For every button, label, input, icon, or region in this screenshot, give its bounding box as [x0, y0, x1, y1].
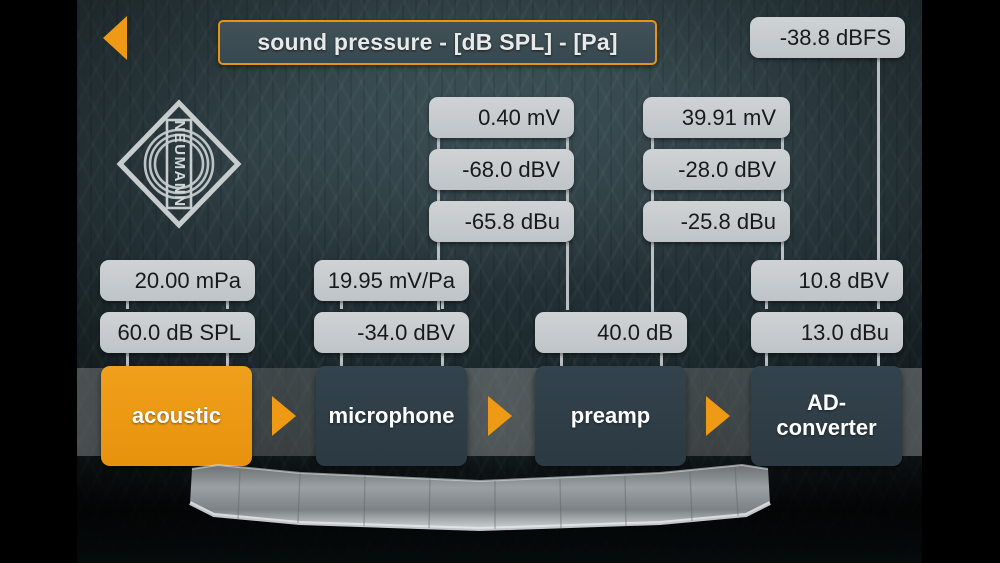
microphone-body — [180, 463, 780, 543]
value-text: 0.40 mV — [478, 105, 560, 131]
page-title: sound pressure - [dB SPL] - [Pa] — [218, 20, 657, 65]
value-text: -34.0 dBV — [357, 320, 455, 346]
connector-line — [651, 242, 654, 314]
value-text: 10.8 dBV — [798, 268, 889, 294]
neumann-diamond-logo: NEUMANN — [115, 98, 243, 230]
value-chip-preamp-dbv: -28.0 dBV — [643, 149, 790, 190]
stage-label: microphone — [329, 404, 455, 429]
arrow-right-icon — [488, 396, 512, 436]
value-text: 40.0 dB — [597, 320, 673, 346]
page-title-text: sound pressure - [dB SPL] - [Pa] — [257, 29, 617, 56]
svg-text:NEUMANN: NEUMANN — [171, 120, 188, 207]
value-text: -25.8 dBu — [681, 209, 776, 235]
value-chip-microphone-sensitivity: 19.95 mV/Pa — [314, 260, 469, 301]
stage-acoustic[interactable]: acoustic — [101, 366, 252, 466]
arrow-right-icon — [272, 396, 296, 436]
value-chip-acoustic-mpa: 20.00 mPa — [100, 260, 255, 301]
stage-label: AD- converter — [776, 391, 876, 440]
value-text: -38.8 dBFS — [780, 25, 891, 51]
letterbox-left — [0, 0, 77, 563]
stage-label: preamp — [571, 404, 650, 429]
value-chip-mic-dbu: -65.8 dBu — [429, 201, 574, 242]
stage-ad-converter[interactable]: AD- converter — [751, 366, 902, 466]
value-chip-microphone-dbv: -34.0 dBV — [314, 312, 469, 353]
connector-line — [877, 58, 880, 263]
value-text: -28.0 dBV — [678, 157, 776, 183]
value-text: -68.0 dBV — [462, 157, 560, 183]
connector-line — [566, 242, 569, 310]
value-text: 13.0 dBu — [801, 320, 889, 346]
value-text: 19.95 mV/Pa — [328, 268, 455, 294]
value-chip-mic-dbv: -68.0 dBV — [429, 149, 574, 190]
letterbox-right — [922, 0, 1000, 563]
value-chip-preamp-gain: 40.0 dB — [535, 312, 687, 353]
value-text: -65.8 dBu — [465, 209, 560, 235]
value-text: 39.91 mV — [682, 105, 776, 131]
value-chip-preamp-mv: 39.91 mV — [643, 97, 790, 138]
value-chip-converter-dbu: 13.0 dBu — [751, 312, 903, 353]
value-chip-mic-mv: 0.40 mV — [429, 97, 574, 138]
value-text: 60.0 dB SPL — [117, 320, 241, 346]
value-chip-preamp-dbu: -25.8 dBu — [643, 201, 790, 242]
value-chip-acoustic-spl: 60.0 dB SPL — [100, 312, 255, 353]
stage-microphone[interactable]: microphone — [316, 366, 467, 466]
stage-label: acoustic — [132, 404, 221, 429]
value-chip-converter-dbv: 10.8 dBV — [751, 260, 903, 301]
app-root: sound pressure - [dB SPL] - [Pa] NEUMANN… — [0, 0, 1000, 563]
stage-preamp[interactable]: preamp — [535, 366, 686, 466]
arrow-right-icon — [706, 396, 730, 436]
value-chip-dbfs: -38.8 dBFS — [750, 17, 905, 58]
back-arrow-icon[interactable] — [103, 16, 127, 60]
value-text: 20.00 mPa — [135, 268, 241, 294]
